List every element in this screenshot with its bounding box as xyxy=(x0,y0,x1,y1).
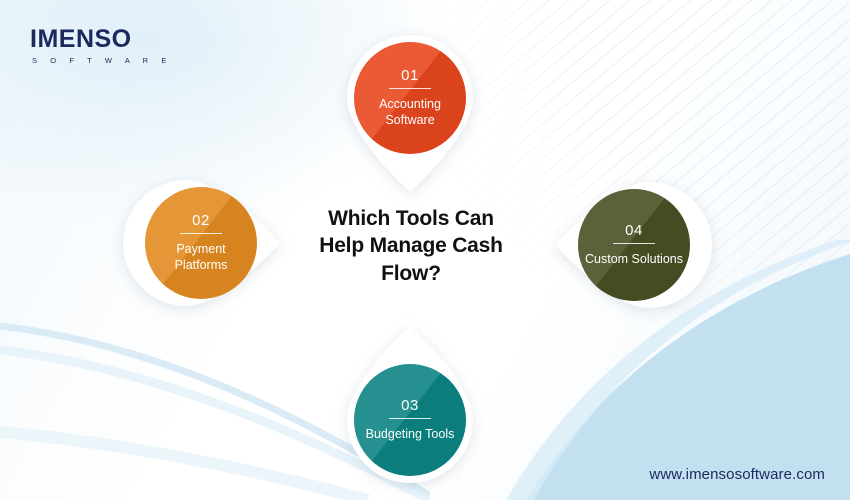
brand-logo: IMENSO S O F T W A R E xyxy=(30,27,172,65)
footer-website-url[interactable]: www.imensosoftware.com xyxy=(649,466,825,483)
center-question-title: Which Tools Can Help Manage Cash Flow? xyxy=(305,205,517,287)
node-bubble[interactable]: 03 Budgeting Tools xyxy=(354,364,466,476)
node-bubble[interactable]: 01 Accounting Software xyxy=(354,42,466,154)
logo-tagline: S O F T W A R E xyxy=(32,56,172,65)
node-payment-platforms[interactable]: 02 Payment Platforms xyxy=(116,158,286,328)
node-label: Custom Solutions xyxy=(579,251,689,267)
node-number: 04 xyxy=(613,223,655,244)
node-accounting-software[interactable]: 01 Accounting Software xyxy=(325,28,495,198)
node-bubble[interactable]: 04 Custom Solutions xyxy=(578,189,690,301)
node-label: Budgeting Tools xyxy=(360,426,461,442)
node-budgeting-tools[interactable]: 03 Budgeting Tools xyxy=(325,320,495,490)
infographic-canvas: IMENSO S O F T W A R E Which Tools Can H… xyxy=(0,0,850,500)
node-number: 01 xyxy=(389,68,431,89)
logo-wordmark: IMENSO xyxy=(30,27,172,52)
node-number: 03 xyxy=(389,398,431,419)
node-number: 02 xyxy=(180,213,222,234)
node-label: Payment Platforms xyxy=(145,241,257,273)
node-label: Accounting Software xyxy=(354,96,466,128)
node-bubble[interactable]: 02 Payment Platforms xyxy=(145,187,257,299)
node-custom-solutions[interactable]: 04 Custom Solutions xyxy=(549,160,719,330)
